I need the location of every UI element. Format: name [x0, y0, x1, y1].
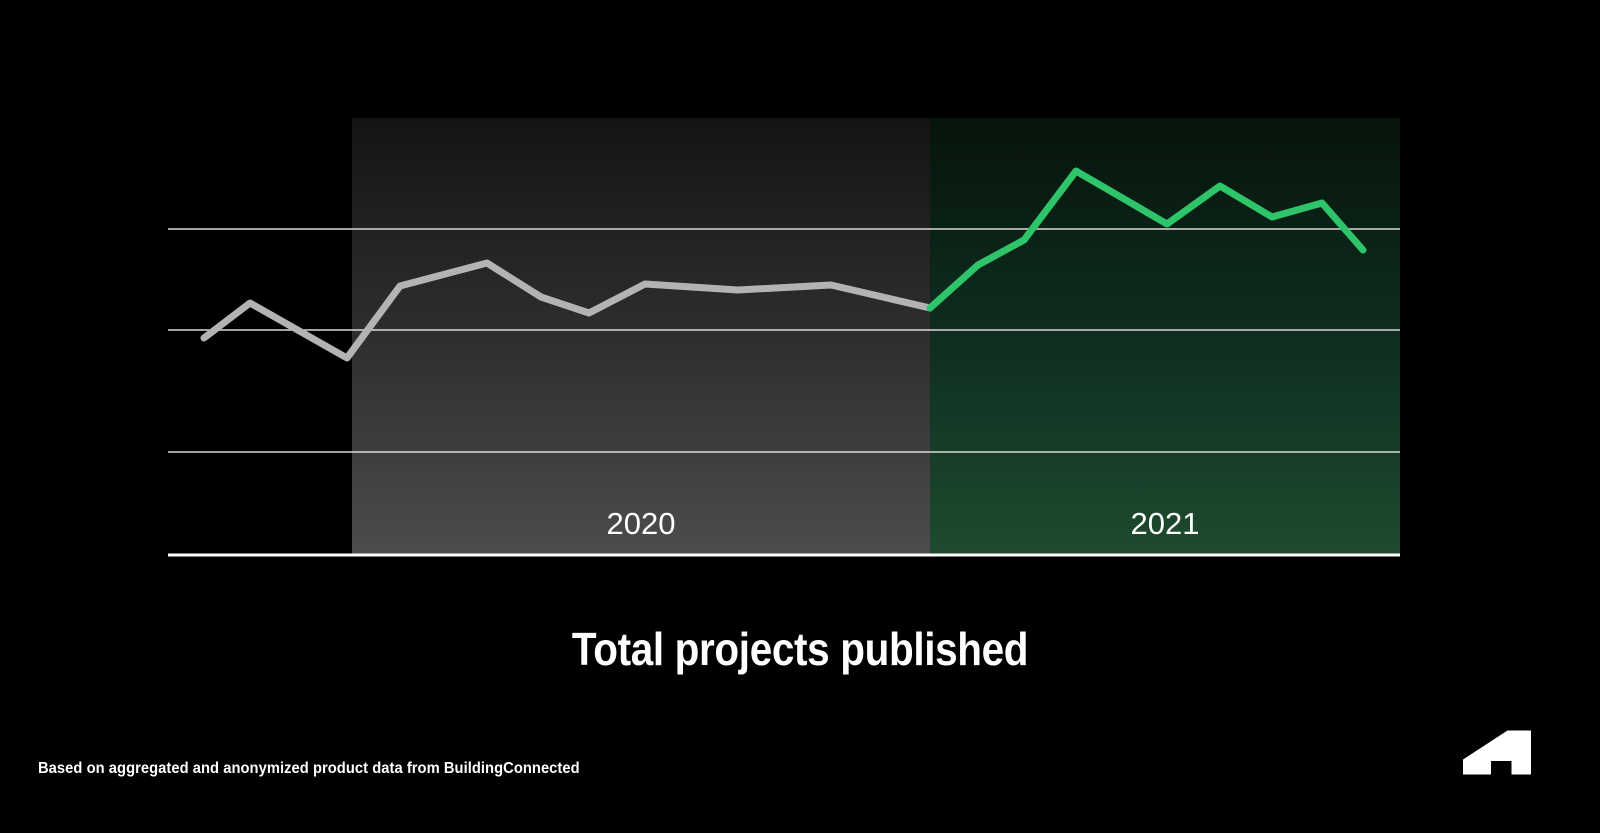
page-title: Total projects published: [96, 622, 1504, 676]
year-band-2020: [352, 118, 930, 555]
source-footnote: Based on aggregated and anonymized produ…: [38, 760, 580, 778]
band-label-2020: 2020: [607, 506, 676, 541]
line-chart: 2020 2021: [0, 0, 1600, 600]
year-band-2021: [930, 118, 1400, 555]
autodesk-logo-icon: [1461, 729, 1533, 776]
slide-root: 2020 2021 Total projects published Based…: [0, 0, 1600, 833]
chart-area: 2020 2021: [0, 0, 1600, 600]
band-label-2021: 2021: [1131, 506, 1200, 541]
